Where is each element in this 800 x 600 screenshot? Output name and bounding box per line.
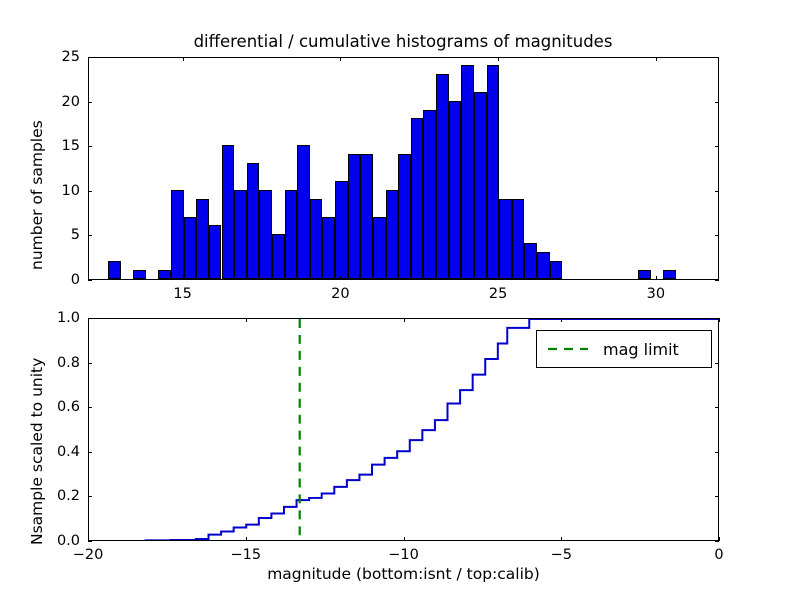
top-xtick-label: 25	[489, 286, 507, 302]
histogram-bar	[524, 243, 537, 279]
top-ytick	[88, 191, 92, 192]
top-xtick-label: 20	[331, 286, 349, 302]
top-xtick	[183, 57, 184, 61]
histogram-bar	[108, 261, 121, 279]
histogram-bar	[449, 101, 462, 279]
histogram-bar	[171, 190, 184, 279]
histogram-bar	[474, 92, 487, 279]
bottom-xtick	[561, 537, 562, 541]
histogram-bar	[487, 65, 500, 279]
legend-label-mag-limit: mag limit	[603, 340, 679, 359]
top-ytick-label: 0	[46, 272, 80, 288]
histogram-bar	[537, 252, 550, 279]
top-xtick	[498, 57, 499, 61]
histogram-bar	[461, 65, 474, 279]
top-xtick	[183, 276, 184, 280]
top-xtick	[340, 276, 341, 280]
top-ytick	[715, 235, 719, 236]
histogram-bar	[512, 199, 525, 279]
bottom-ytick	[715, 363, 719, 364]
top-ytick	[88, 57, 92, 58]
histogram-bar	[398, 154, 411, 279]
bottom-xtick	[246, 537, 247, 541]
top-ytick	[88, 235, 92, 236]
bottom-xtick	[246, 318, 247, 322]
figure-canvas: differential / cumulative histograms of …	[0, 0, 800, 600]
histogram-bar	[373, 217, 386, 279]
bottom-xtick-label: −20	[73, 547, 104, 563]
histogram-bar	[184, 217, 197, 279]
bottom-ytick-label: 0.8	[38, 355, 80, 371]
histogram-bar	[222, 145, 235, 279]
bottom-ytick-label: 0.0	[38, 533, 80, 549]
top-xtick	[656, 57, 657, 61]
histogram-bar	[348, 154, 361, 279]
bottom-ytick	[715, 496, 719, 497]
histogram-bar	[259, 190, 272, 279]
bottom-xtick-label: −5	[551, 547, 572, 563]
top-ytick	[715, 280, 719, 281]
histogram-bar	[386, 190, 399, 279]
bottom-ytick-label: 0.6	[38, 399, 80, 415]
histogram-bar	[247, 163, 260, 279]
histogram-bar	[638, 270, 651, 279]
top-ytick-label: 25	[46, 49, 80, 65]
histogram-bar	[335, 181, 348, 279]
histogram-bar	[550, 261, 563, 279]
bottom-xtick-label: −15	[230, 547, 261, 563]
top-xtick-label: 30	[647, 286, 665, 302]
bottom-ytick	[88, 496, 92, 497]
histogram-bar	[133, 270, 146, 279]
histogram-bar	[423, 110, 436, 279]
histogram-bar	[196, 199, 209, 279]
histogram-bar	[663, 270, 676, 279]
histogram-bar	[310, 199, 323, 279]
histogram-bar	[209, 225, 222, 279]
histogram-bar	[499, 199, 512, 279]
bottom-ytick	[715, 407, 719, 408]
bottom-ytick-label: 0.2	[38, 488, 80, 504]
top-xtick	[656, 276, 657, 280]
top-ytick	[88, 280, 92, 281]
histogram-bar	[285, 190, 298, 279]
bottom-xtick	[719, 537, 720, 541]
top-xtick	[340, 57, 341, 61]
histogram-bar	[436, 74, 449, 279]
bottom-ytick	[88, 407, 92, 408]
top-ytick	[715, 191, 719, 192]
top-xtick	[498, 276, 499, 280]
bottom-ytick	[88, 318, 92, 319]
top-ytick-label: 10	[46, 183, 80, 199]
top-ytick-label: 20	[46, 94, 80, 110]
histogram-bar	[411, 118, 424, 279]
bottom-ytick-label: 0.4	[38, 444, 80, 460]
top-ytick	[88, 146, 92, 147]
top-xtick-label: 15	[173, 286, 191, 302]
bottom-ytick	[88, 452, 92, 453]
bottom-xtick	[404, 537, 405, 541]
legend-box: mag limit	[536, 330, 712, 368]
histogram-bar	[272, 234, 285, 279]
differential-histogram-axes	[88, 57, 719, 280]
bottom-ytick-label: 1.0	[38, 310, 80, 326]
bottom-ytick	[715, 452, 719, 453]
top-ytick	[715, 102, 719, 103]
top-ytick	[715, 146, 719, 147]
bottom-xtick-label: −10	[388, 547, 419, 563]
top-ytick	[715, 57, 719, 58]
differential-histogram-plot-area	[89, 58, 718, 279]
histogram-bar	[158, 270, 171, 279]
bottom-plot-xlabel: magnitude (bottom:isnt / top:calib)	[88, 565, 719, 583]
figure-title: differential / cumulative histograms of …	[88, 32, 718, 51]
bottom-ytick	[715, 318, 719, 319]
top-ytick-label: 15	[46, 138, 80, 154]
bottom-xtick	[561, 318, 562, 322]
bottom-ytick	[88, 541, 92, 542]
top-ytick-label: 5	[46, 227, 80, 243]
bottom-xtick-label: 0	[714, 547, 723, 563]
histogram-bar	[322, 217, 335, 279]
top-plot-ylabel: number of samples	[28, 120, 46, 270]
histogram-bar	[360, 154, 373, 279]
mag-limit-line-icon	[547, 343, 589, 355]
bottom-xtick	[719, 318, 720, 322]
bottom-ytick	[715, 541, 719, 542]
histogram-bar	[297, 145, 310, 279]
bottom-xtick	[404, 318, 405, 322]
histogram-bar	[234, 190, 247, 279]
bottom-ytick	[88, 363, 92, 364]
top-ytick	[88, 102, 92, 103]
